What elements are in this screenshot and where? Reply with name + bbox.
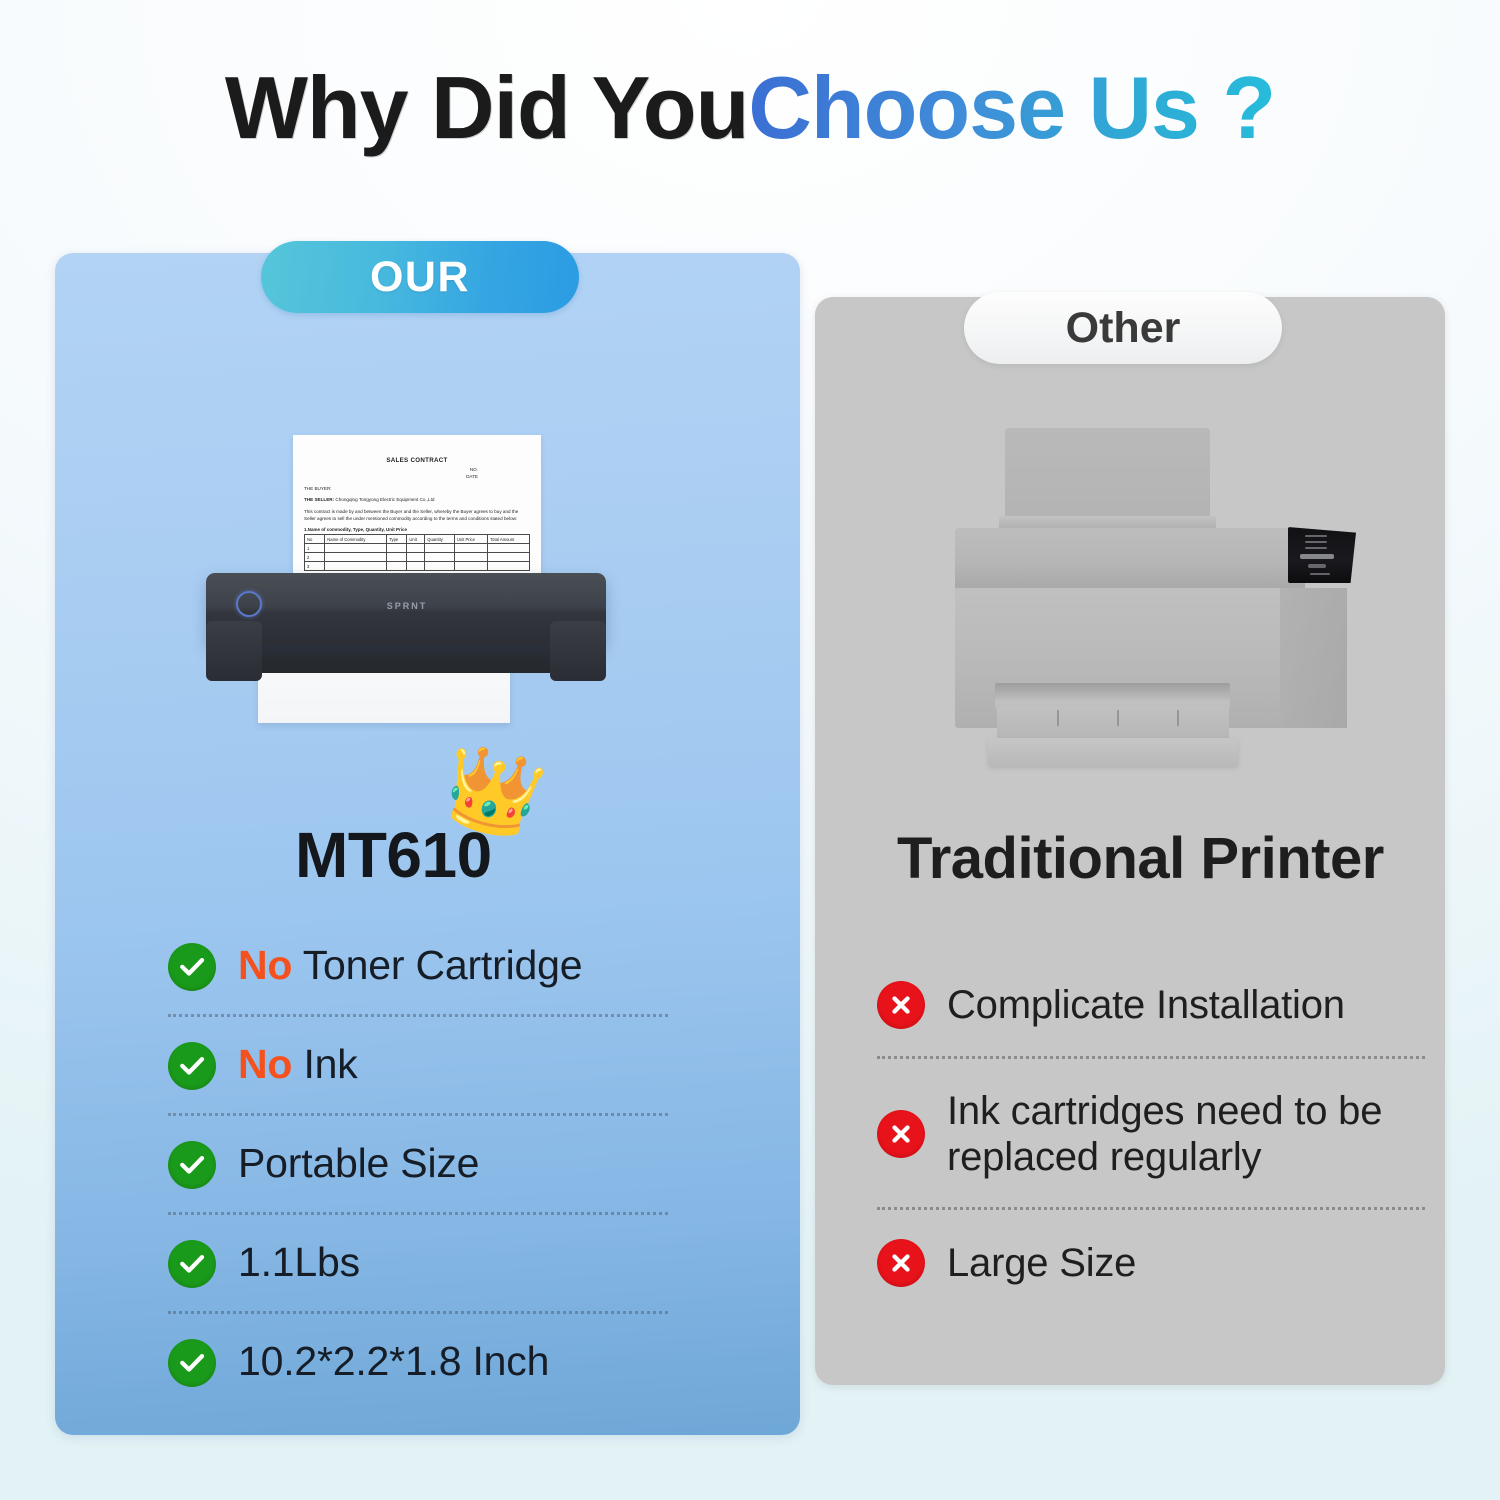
table-cell: 1 [305, 544, 325, 553]
table-header-cell: Unit Price [454, 535, 487, 544]
list-item: Portable Size [168, 1116, 668, 1212]
page-title: Why Did You Choose Us ? [0, 62, 1500, 154]
document-seller-value: Chongqing Tongyong Electric Equipment Co… [335, 497, 434, 502]
check-circle-icon [168, 1141, 216, 1189]
traditional-printer-illustration [955, 398, 1385, 798]
check-circle-icon [168, 1042, 216, 1090]
feature-label: Large Size [947, 1238, 1136, 1286]
feature-label: Complicate Installation [947, 980, 1345, 1028]
feature-text: No Ink [238, 1041, 358, 1089]
printer-body-side [1280, 588, 1347, 728]
power-button-icon [236, 591, 262, 617]
feature-label: Toner Cartridge [292, 942, 582, 988]
document-seller-label: THE SELLER: [304, 497, 334, 502]
feature-prefix: No [238, 942, 292, 988]
feature-text: No Toner Cartridge [238, 942, 582, 990]
table-header-cell: Total Amount [488, 535, 530, 544]
printer-top-cover [955, 528, 1305, 590]
feature-label: Portable Size [238, 1140, 479, 1188]
list-item: No Toner Cartridge [168, 918, 668, 1014]
printer-paper-feed-tray [1005, 428, 1210, 528]
printer-output-tray [997, 706, 1229, 740]
table-row: 1 [305, 544, 530, 553]
check-circle-icon [168, 943, 216, 991]
printer-left-end [206, 621, 262, 681]
printer-tray-extension [988, 738, 1238, 766]
list-item: 10.2*2.2*1.8 Inch [168, 1314, 668, 1410]
document-title: SALES CONTRACT [304, 457, 530, 464]
list-item: Large Size [877, 1210, 1425, 1314]
feature-label: 1.1Lbs [238, 1239, 360, 1287]
other-product-name: Traditional Printer [897, 825, 1384, 892]
sales-contract-document: SALES CONTRACT NO. DATE THE BUYER: THE S… [293, 435, 541, 577]
document-table: No Name of Commodity Type Unit Quantity … [304, 534, 530, 571]
list-item: 1.1Lbs [168, 1215, 668, 1311]
printer-control-panel [1288, 527, 1356, 583]
feature-prefix: No [238, 1041, 292, 1087]
table-row: 2 [305, 553, 530, 562]
table-row: 3 [305, 562, 530, 571]
list-item: Ink cartridges need to be replaced regul… [877, 1059, 1425, 1207]
other-product-card: Traditional Printer Complicate Installat… [815, 297, 1445, 1385]
table-header-cell: Name of Commodity [325, 535, 387, 544]
comparison-infographic: Why Did You Choose Us ? SALES CONTRACT N… [0, 0, 1500, 1500]
cross-circle-icon [877, 1110, 925, 1158]
page-title-dark: Why Did You [225, 62, 749, 154]
page-title-accent: Choose Us ? [748, 62, 1275, 154]
table-cell: 3 [305, 562, 325, 571]
our-product-card: SALES CONTRACT NO. DATE THE BUYER: THE S… [55, 253, 800, 1435]
printer-brand-logo: SPRNT [362, 601, 452, 611]
table-header-cell: Quantity [425, 535, 455, 544]
table-header-row: No Name of Commodity Type Unit Quantity … [305, 535, 530, 544]
document-no-label: NO. [304, 467, 478, 474]
table-header-cell: Unit [407, 535, 425, 544]
our-feature-list: No Toner Cartridge No Ink Portable Size [168, 918, 668, 1410]
feature-label: Ink [292, 1041, 357, 1087]
document-buyer-label: THE BUYER: [304, 486, 530, 493]
other-feature-list: Complicate Installation Ink cartridges n… [877, 952, 1425, 1314]
cross-circle-icon [877, 981, 925, 1029]
list-item: No Ink [168, 1017, 668, 1113]
table-header-cell: Type [387, 535, 407, 544]
cross-circle-icon [877, 1239, 925, 1287]
mt610-printer-illustration: SALES CONTRACT NO. DATE THE BUYER: THE S… [196, 425, 616, 745]
check-circle-icon [168, 1240, 216, 1288]
feature-label: Ink cartridges need to be replaced regul… [947, 1086, 1417, 1181]
other-badge: Other [964, 292, 1282, 364]
document-no-date: NO. DATE [304, 467, 530, 481]
document-body-text: This contract is made by and between the… [304, 509, 530, 522]
document-seller-line: THE SELLER: Chongqing Tongyong Electric … [304, 497, 530, 504]
document-section-label: 1.Name of commodity, Type, Quantity, Uni… [304, 527, 530, 532]
list-item: Complicate Installation [877, 952, 1425, 1056]
table-header-cell: No [305, 535, 325, 544]
document-date-label: DATE [304, 474, 478, 481]
feature-label: 10.2*2.2*1.8 Inch [238, 1338, 549, 1386]
table-cell: 2 [305, 553, 325, 562]
check-circle-icon [168, 1339, 216, 1387]
our-badge: OUR [261, 241, 579, 313]
printer-right-end [550, 621, 606, 681]
